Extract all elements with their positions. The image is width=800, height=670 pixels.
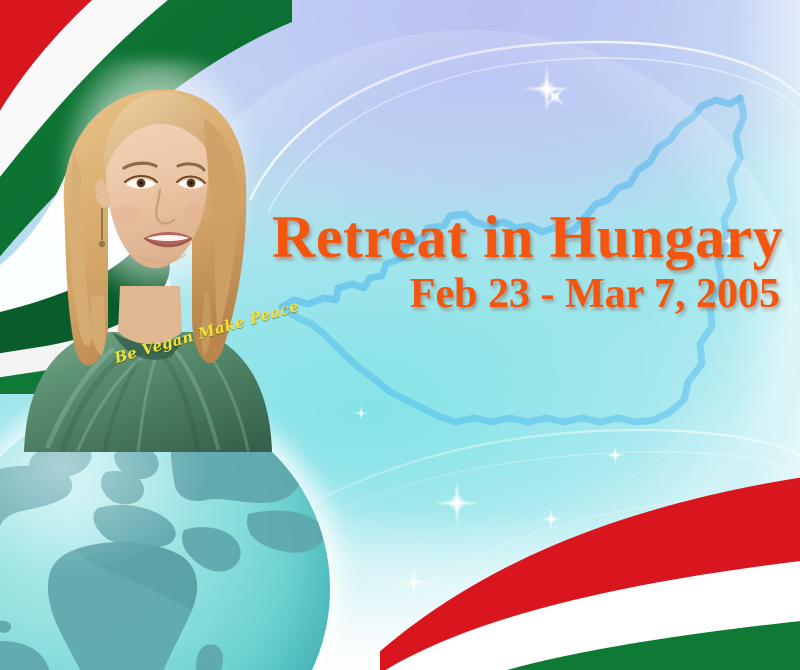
- poster-canvas: Be Vegan Make Peace Retreat in Hungary F…: [0, 0, 800, 670]
- poster-dates: Feb 23 - Mar 7, 2005: [272, 272, 788, 316]
- headline-block: Retreat in Hungary Feb 23 - Mar 7, 2005: [272, 206, 788, 316]
- hungary-flag-ribbon-bottom-right: [380, 370, 800, 670]
- woman-portrait: [8, 56, 288, 452]
- poster-title: Retreat in Hungary: [272, 206, 788, 268]
